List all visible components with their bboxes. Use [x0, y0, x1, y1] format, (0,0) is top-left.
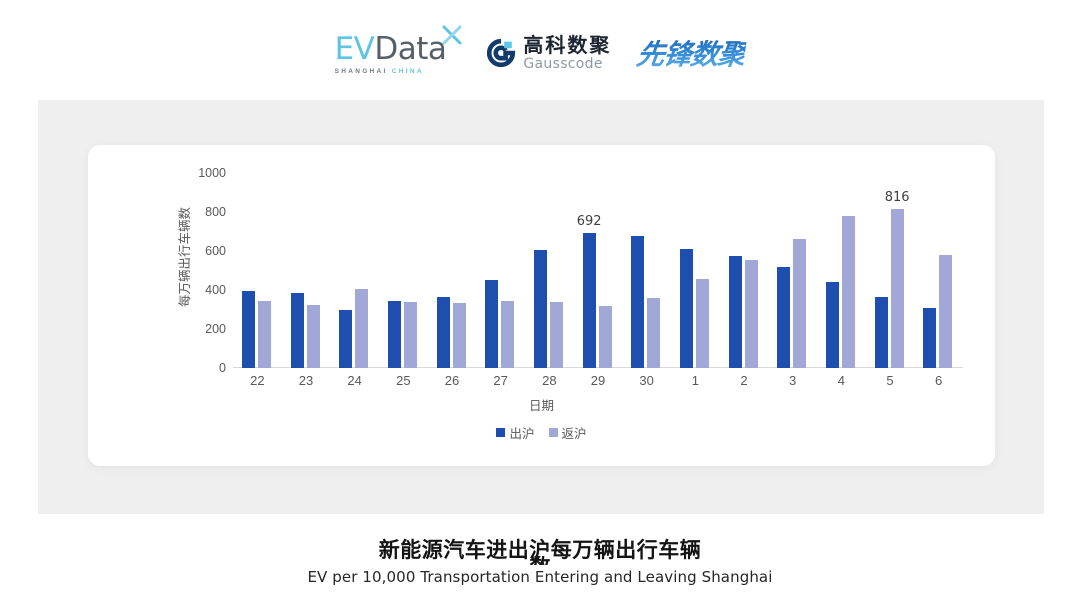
bar-出沪-25[interactable] [388, 301, 401, 368]
legend-item-返沪[interactable]: 返沪 [549, 423, 587, 442]
x-tick-label: 27 [493, 373, 507, 388]
legend-label: 返沪 [562, 423, 587, 442]
legend-item-出沪[interactable]: 出沪 [496, 423, 534, 442]
bar-chart: 每万辆出行车辆数 10008006004002000 692816 222324… [88, 145, 995, 466]
bar-返沪-1[interactable] [696, 279, 709, 368]
legend-swatch-icon [549, 428, 558, 437]
x-tick-label: 26 [445, 373, 459, 388]
bar-返沪-29[interactable] [599, 306, 612, 368]
bar-出沪-5[interactable] [875, 297, 888, 368]
bar-返沪-5[interactable] [891, 209, 904, 368]
bar-group [817, 173, 866, 368]
x-tick-label: 1 [692, 373, 699, 388]
bar-出沪-24[interactable] [339, 310, 352, 368]
chart-card: 每万辆出行车辆数 10008006004002000 692816 222324… [88, 145, 995, 466]
x-tick-label: 29 [591, 373, 605, 388]
bar-返沪-2[interactable] [745, 260, 758, 368]
y-tick-label: 200 [205, 323, 226, 336]
bar-group [671, 173, 720, 368]
gausscode-text: 高科数聚 Gausscode [523, 35, 611, 71]
bar-group [914, 173, 963, 368]
x-tick-label: 2 [740, 373, 747, 388]
chart-legend: 出沪返沪 [88, 423, 995, 442]
bar-group [525, 173, 574, 368]
caption-english: EV per 10,000 Transportation Entering an… [0, 568, 1080, 586]
x-tick-label: 3 [789, 373, 796, 388]
legend-swatch-icon [496, 428, 505, 437]
evdata-subtitle: SHANGHAI CHINA [335, 68, 424, 75]
y-tick-label: 400 [205, 284, 226, 297]
evdata-logo: EVData SHANGHAI CHINA [335, 32, 461, 75]
evdata-ev-text: EV [335, 31, 375, 67]
xianfeng-shuju-logo: 先锋数聚 [635, 33, 749, 73]
bar-group [768, 173, 817, 368]
bar-出沪-27[interactable] [485, 280, 498, 368]
bar-group: 816 [866, 173, 915, 368]
bar-出沪-22[interactable] [242, 291, 255, 368]
bar-返沪-4[interactable] [842, 216, 855, 368]
g-circle-icon [486, 38, 516, 68]
caption-chinese: 新能源汽车进出沪每万辆出行车辆 [0, 534, 1080, 564]
bar-出沪-6[interactable] [923, 308, 936, 368]
x-tick-label: 25 [396, 373, 410, 388]
bar-出沪-30[interactable] [631, 236, 644, 368]
bar-返沪-24[interactable] [355, 289, 368, 368]
legend-label: 出沪 [509, 423, 534, 442]
bar-group [379, 173, 428, 368]
x-tick-label: 22 [250, 373, 264, 388]
x-tick-label: 4 [838, 373, 845, 388]
y-tick-label: 600 [205, 245, 226, 258]
bar-返沪-30[interactable] [647, 298, 660, 368]
bar-value-label: 816 [885, 190, 910, 205]
gausscode-cn-name: 高科数聚 [523, 35, 611, 55]
bar-返沪-22[interactable] [258, 301, 271, 368]
bar-group [330, 173, 379, 368]
bar-group [428, 173, 477, 368]
y-tick-label: 0 [219, 362, 226, 375]
bar-出沪-4[interactable] [826, 282, 839, 368]
evdata-wordmark: EVData [335, 32, 447, 66]
evdata-subtitle-shanghai: SHANGHAI [335, 68, 388, 75]
bar-出沪-3[interactable] [777, 267, 790, 368]
bar-value-label: 692 [577, 214, 602, 229]
x-axis-title: 日期 [88, 395, 995, 414]
x-tick-label: 24 [347, 373, 361, 388]
x-tick-label: 30 [639, 373, 653, 388]
y-tick-label: 800 [205, 206, 226, 219]
bar-返沪-28[interactable] [550, 302, 563, 368]
x-tick-label: 28 [542, 373, 556, 388]
y-axis-ticks: 10008006004002000 [186, 173, 226, 368]
bar-group: 692 [574, 173, 623, 368]
bar-出沪-26[interactable] [437, 297, 450, 368]
bar-返沪-26[interactable] [453, 303, 466, 368]
bar-group [720, 173, 769, 368]
x-tick-label: 5 [886, 373, 893, 388]
bar-group [233, 173, 282, 368]
gausscode-logo: 高科数聚 Gausscode [486, 35, 611, 71]
bar-group [622, 173, 671, 368]
evdata-subtitle-china: CHINA [392, 68, 424, 75]
bar-出沪-1[interactable] [680, 249, 693, 368]
bar-返沪-27[interactable] [501, 301, 514, 368]
bar-group [282, 173, 331, 368]
bar-出沪-28[interactable] [534, 250, 547, 368]
bar-出沪-23[interactable] [291, 293, 304, 368]
bar-返沪-23[interactable] [307, 305, 320, 368]
plot-area: 692816 [233, 173, 963, 368]
bar-返沪-3[interactable] [793, 239, 806, 368]
x-axis-ticks: 222324252627282930123456 [233, 373, 963, 391]
evdata-data-text: Data [374, 31, 446, 67]
logo-bar: EVData SHANGHAI CHINA 高科数聚 Gausscode 先锋数… [0, 24, 1080, 82]
gausscode-en-name: Gausscode [523, 57, 611, 71]
bar-返沪-25[interactable] [404, 302, 417, 368]
x-tick-label: 23 [299, 373, 313, 388]
bar-返沪-6[interactable] [939, 255, 952, 368]
x-mark-icon [441, 24, 463, 46]
bar-group [476, 173, 525, 368]
x-tick-label: 6 [935, 373, 942, 388]
y-tick-label: 1000 [198, 167, 226, 180]
bar-出沪-2[interactable] [729, 256, 742, 369]
bar-出沪-29[interactable] [583, 233, 596, 368]
